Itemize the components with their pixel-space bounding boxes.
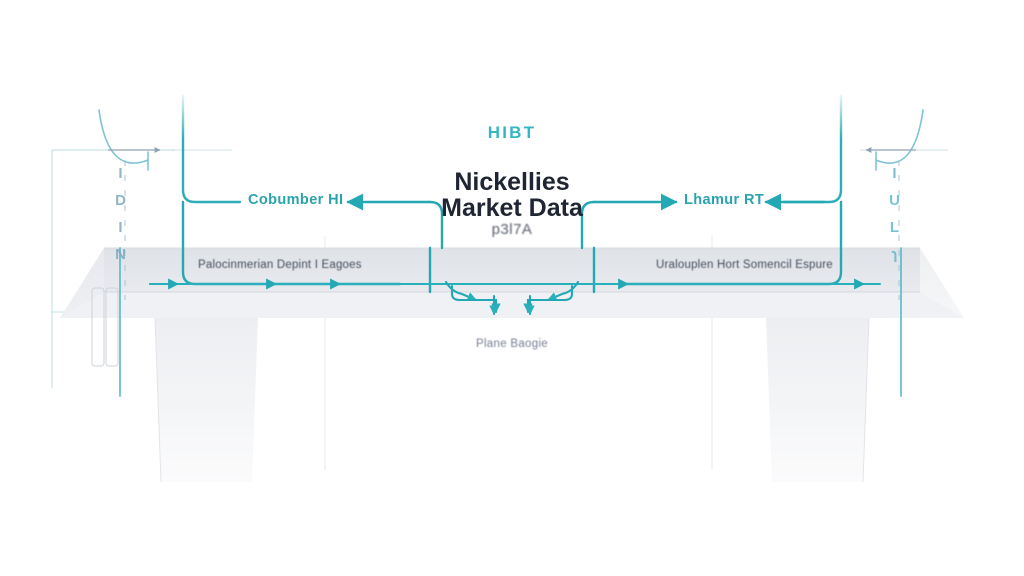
flow-drop-left [430, 202, 442, 248]
flow-drop-right [582, 202, 594, 248]
flow-path-left-inbound [183, 96, 240, 202]
diagram-canvas: HIBT Nickellies Market Data p3l7A Cobumb… [0, 0, 1024, 576]
margin-decor-curves [99, 110, 923, 170]
flow-path-right-inbound [784, 96, 841, 202]
structure-layer [0, 0, 1024, 576]
left-decor-curve [99, 110, 148, 163]
right-decor-curve [876, 110, 923, 163]
bridge-piers [155, 318, 869, 482]
